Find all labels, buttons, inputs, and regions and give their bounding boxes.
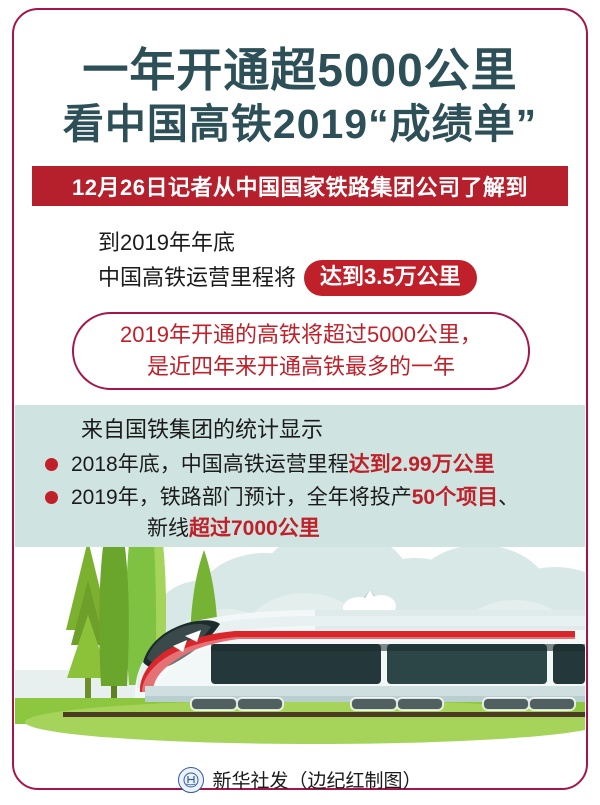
list-item: 2019年，铁路部门预计，全年将投产50个项目、 新线超过7000公里 bbox=[45, 482, 519, 544]
statement-line-2-prefix: 中国高铁运营里程将 bbox=[98, 261, 296, 295]
statement-line-1: 到2019年年底 bbox=[98, 226, 477, 260]
ribbon-banner: 12月26日记者从中国国家铁路集团公司了解到 bbox=[32, 166, 568, 206]
railway-track bbox=[63, 712, 585, 717]
stat-highlight-1: 50个项目 bbox=[412, 486, 498, 509]
footer-credit: 新华社发（边纪红制图） bbox=[0, 766, 600, 793]
headline-line-1: 一年开通超5000公里 bbox=[0, 44, 600, 96]
stat-highlight-1: 达到2.99万公里 bbox=[349, 453, 495, 476]
statistics-list: 2018年底，中国高铁运营里程达到2.99万公里 2019年，铁路部门预计，全年… bbox=[45, 449, 519, 546]
stat-continuation: 新线超过7000公里 bbox=[71, 513, 519, 544]
callout-box: 2019年开通的高铁将超过5000公里， 是近四年来开通高铁最多的一年 bbox=[72, 312, 530, 390]
bullet-dot-icon bbox=[45, 491, 58, 504]
credit-text: 新华社发（边纪红制图） bbox=[212, 766, 421, 793]
statistics-heading: 来自国铁集团的统计显示 bbox=[81, 415, 323, 445]
xinhua-emblem-icon bbox=[178, 767, 204, 793]
bullet-dot-icon bbox=[45, 458, 58, 471]
stat-cont-plain: 新线 bbox=[147, 517, 189, 540]
callout-line-2: 是近四年来开通高铁最多的一年 bbox=[147, 351, 455, 383]
xinhua-emblem-svg bbox=[183, 772, 199, 788]
statement-block: 到2019年年底 中国高铁运营里程将 达到3.5万公里 bbox=[98, 226, 477, 296]
statement-line-2: 中国高铁运营里程将 达到3.5万公里 bbox=[98, 260, 477, 296]
callout-line-1: 2019年开通的高铁将超过5000公里， bbox=[120, 319, 482, 351]
train-wheels bbox=[191, 698, 575, 710]
ribbon-text: 12月26日记者从中国国家铁路集团公司了解到 bbox=[32, 166, 568, 206]
stat-plain-2: 、 bbox=[498, 486, 519, 509]
statement-badge: 达到3.5万公里 bbox=[304, 260, 477, 296]
stat-plain-1: 2018年底，中国高铁运营里程 bbox=[71, 453, 349, 476]
list-item: 2018年底，中国高铁运营里程达到2.99万公里 bbox=[45, 449, 519, 480]
headline-line-2: 看中国高铁2019“成绩单” bbox=[0, 100, 600, 148]
statistics-panel: 来自国铁集团的统计显示 2018年底，中国高铁运营里程达到2.99万公里 201… bbox=[15, 405, 585, 547]
stat-cont-highlight: 超过7000公里 bbox=[189, 517, 320, 540]
stat-plain-1: 2019年，铁路部门预计，全年将投产 bbox=[71, 486, 412, 509]
bullet-train bbox=[135, 610, 585, 710]
infographic-poster: 一年开通超5000公里 看中国高铁2019“成绩单” 12月26日记者从中国国家… bbox=[0, 0, 600, 805]
